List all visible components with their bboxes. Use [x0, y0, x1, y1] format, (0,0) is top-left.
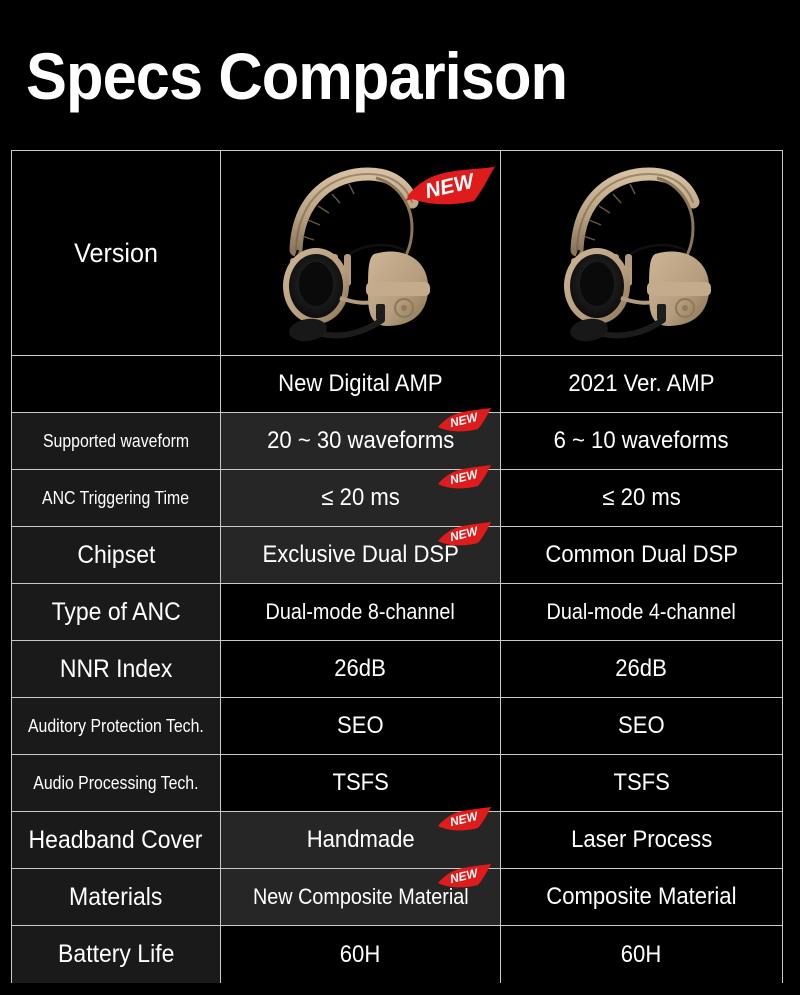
row-value-old-cell: Dual-mode 4-channel	[501, 584, 782, 640]
row-value-old-text: 60H	[621, 941, 662, 969]
row-label-spacer	[12, 356, 221, 412]
row-value-old-text: SEO	[618, 712, 665, 740]
table-row-chipset: Chipset Exclusive Dual DSP NEW Common Du…	[12, 527, 782, 584]
table-row-auditory-protection-tech: Auditory Protection Tech. SEO SEO	[12, 698, 782, 755]
row-label-cell: Type of ANC	[12, 584, 221, 640]
row-label-text: Audio Processing Tech.	[33, 773, 198, 794]
product-name-old-text: 2021 Ver. AMP	[568, 370, 714, 398]
row-value-old-cell: Common Dual DSP	[501, 527, 782, 583]
row-label-cell: Supported waveform	[12, 413, 221, 469]
row-label-cell: Battery Life	[12, 926, 221, 983]
row-value-new-cell: 26dB	[221, 641, 501, 697]
row-value-new-text: 60H	[340, 941, 381, 969]
row-label-text: Battery Life	[58, 940, 174, 969]
table-row-supported-waveform: Supported waveform 20 ~ 30 waveforms NEW…	[12, 413, 782, 470]
table-row-product-name: New Digital AMP 2021 Ver. AMP	[12, 356, 782, 413]
row-label-cell: Chipset	[12, 527, 221, 583]
table-body: Supported waveform 20 ~ 30 waveforms NEW…	[12, 413, 782, 983]
row-value-new-text: Exclusive Dual DSP	[262, 541, 458, 569]
table-row-anc-triggering-time: ANC Triggering Time ≤ 20 ms NEW ≤ 20 ms	[12, 470, 782, 527]
row-label-text: Headband Cover	[29, 826, 203, 855]
row-value-old-text: 26dB	[616, 655, 668, 683]
row-label-text: Version	[74, 238, 158, 269]
row-value-new-cell: Handmade NEW	[221, 812, 501, 868]
row-value-new-text: Handmade	[306, 826, 414, 854]
specs-comparison-page: Specs Comparison Version	[0, 0, 800, 995]
row-value-new-cell: ≤ 20 ms NEW	[221, 470, 501, 526]
row-label-text: Type of ANC	[51, 598, 180, 627]
specs-comparison-table: Version	[11, 150, 783, 983]
row-label-cell: Headband Cover	[12, 812, 221, 868]
product-image-new-digital-amp: NEW	[221, 151, 501, 355]
row-value-new-text: TSFS	[332, 769, 388, 797]
row-value-old-cell: 26dB	[501, 641, 782, 697]
row-value-new-text: SEO	[337, 712, 384, 740]
product-name-old: 2021 Ver. AMP	[501, 356, 782, 412]
row-label-cell: Materials	[12, 869, 221, 925]
row-label-text: Materials	[69, 883, 162, 912]
row-value-old-cell: 60H	[501, 926, 782, 983]
new-badge-text: NEW	[448, 466, 480, 487]
table-row-version: Version	[12, 151, 782, 356]
row-value-new-cell: 60H	[221, 926, 501, 983]
row-value-new-cell: TSFS	[221, 755, 501, 811]
row-value-old-text: 6 ~ 10 waveforms	[554, 427, 729, 455]
product-name-new-text: New Digital AMP	[278, 370, 442, 398]
row-value-old-cell: Laser Process	[501, 812, 782, 868]
tactical-headset-illustration	[517, 158, 767, 348]
row-value-new-text: Dual-mode 8-channel	[266, 599, 455, 625]
product-name-new: New Digital AMP	[221, 356, 501, 412]
row-value-old-text: Common Dual DSP	[545, 541, 738, 569]
page-title: Specs Comparison	[26, 36, 677, 116]
table-row-headband-cover: Headband Cover Handmade NEW Laser Proces…	[12, 812, 782, 869]
row-label-text: Supported waveform	[43, 431, 189, 452]
row-value-new-text: 20 ~ 30 waveforms	[267, 427, 454, 455]
row-value-new-cell: New Composite Material NEW	[221, 869, 501, 925]
table-row-nnr-index: NNR Index 26dB 26dB	[12, 641, 782, 698]
row-value-new-text: New Composite Material	[253, 884, 469, 910]
row-value-old-cell: Composite Material	[501, 869, 782, 925]
row-label-version: Version	[12, 151, 221, 355]
table-row-battery-life: Battery Life 60H 60H	[12, 926, 782, 983]
row-value-old-text: Composite Material	[546, 883, 736, 911]
row-label-cell: Auditory Protection Tech.	[12, 698, 221, 754]
row-value-old-text: TSFS	[613, 769, 669, 797]
row-value-old-cell: ≤ 20 ms	[501, 470, 782, 526]
row-label-cell: NNR Index	[12, 641, 221, 697]
row-value-new-cell: 20 ~ 30 waveforms NEW	[221, 413, 501, 469]
row-value-new-cell: Exclusive Dual DSP NEW	[221, 527, 501, 583]
row-label-cell: Audio Processing Tech.	[12, 755, 221, 811]
row-label-text: Auditory Protection Tech.	[28, 716, 204, 737]
row-value-new-text: ≤ 20 ms	[321, 484, 399, 512]
row-value-old-cell: SEO	[501, 698, 782, 754]
row-label-text: ANC Triggering Time	[42, 488, 189, 509]
row-label-text: NNR Index	[60, 655, 172, 684]
new-badge-text: NEW	[448, 808, 480, 829]
row-value-old-cell: 6 ~ 10 waveforms	[501, 413, 782, 469]
row-value-old-text: ≤ 20 ms	[602, 484, 680, 512]
row-label-cell: ANC Triggering Time	[12, 470, 221, 526]
row-value-new-cell: SEO	[221, 698, 501, 754]
table-row-audio-processing-tech: Audio Processing Tech. TSFS TSFS	[12, 755, 782, 812]
row-label-text: Chipset	[77, 541, 155, 570]
table-row-type-of-anc: Type of ANC Dual-mode 8-channel Dual-mod…	[12, 584, 782, 641]
tactical-headset-illustration	[236, 158, 486, 348]
row-value-old-text: Laser Process	[571, 826, 712, 854]
row-value-new-cell: Dual-mode 8-channel	[221, 584, 501, 640]
row-value-old-cell: TSFS	[501, 755, 782, 811]
product-image-2021-ver-amp	[501, 151, 782, 355]
row-value-new-text: 26dB	[335, 655, 387, 683]
table-row-materials: Materials New Composite Material NEW Com…	[12, 869, 782, 926]
row-value-old-text: Dual-mode 4-channel	[547, 599, 736, 625]
